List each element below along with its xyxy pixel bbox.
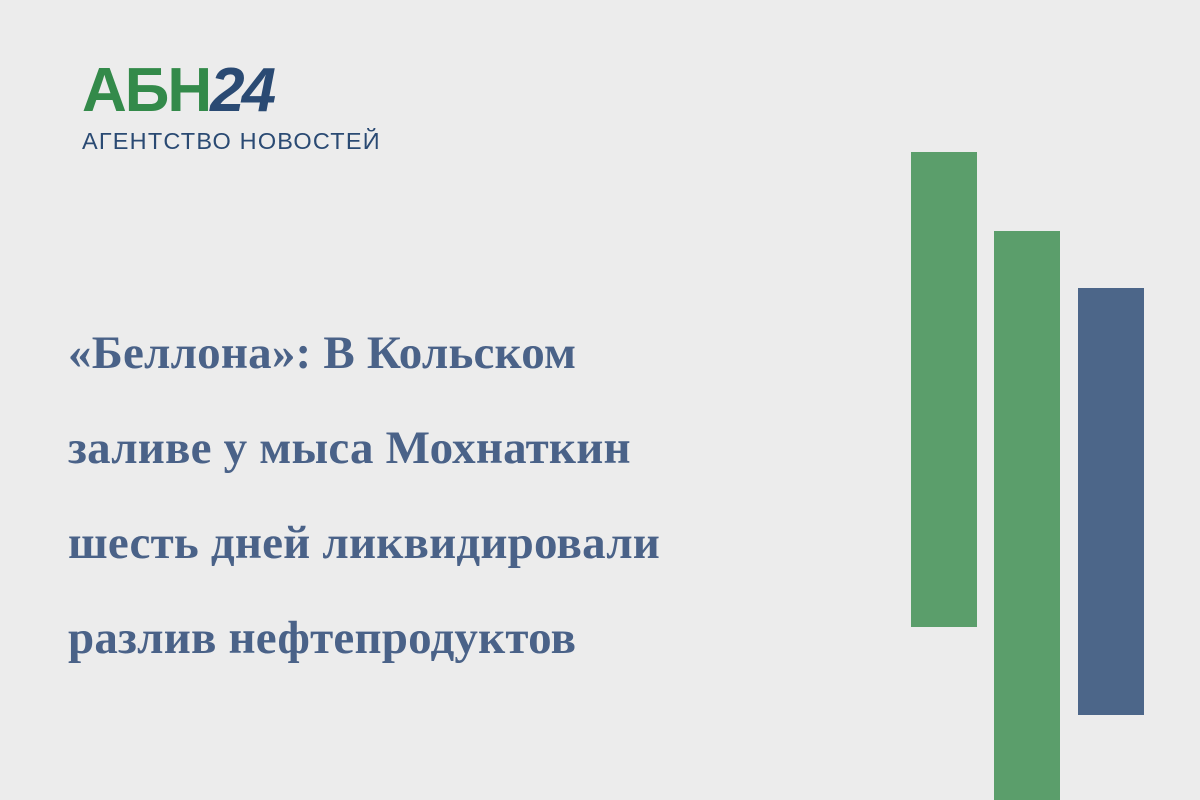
abn24-logo[interactable]: АБН24 АГЕНТСТВО НОВОСТЕЙ [82,60,382,154]
headline: «Беллона»: В Кольском заливе у мыса Мохн… [68,306,868,686]
logo-wordmark-primary: АБН [82,56,210,125]
headline-line-4: разлив нефтепродуктов [68,591,868,686]
news-card: АБН24 АГЕНТСТВО НОВОСТЕЙ «Беллона»: В Ко… [0,0,1200,800]
headline-line-2: заливе у мыса Мохнаткин [68,401,868,496]
logo-wordmark: АБН24 [82,60,382,122]
decorative-bar-3 [1078,288,1144,715]
headline-line-3: шесть дней ликвидировали [68,496,868,591]
decorative-bar-2 [994,231,1060,800]
headline-line-1: «Беллона»: В Кольском [68,306,868,401]
logo-tagline: АГЕНТСТВО НОВОСТЕЙ [82,128,382,154]
decorative-bar-1 [911,152,977,627]
logo-wordmark-accent: 24 [210,56,273,125]
